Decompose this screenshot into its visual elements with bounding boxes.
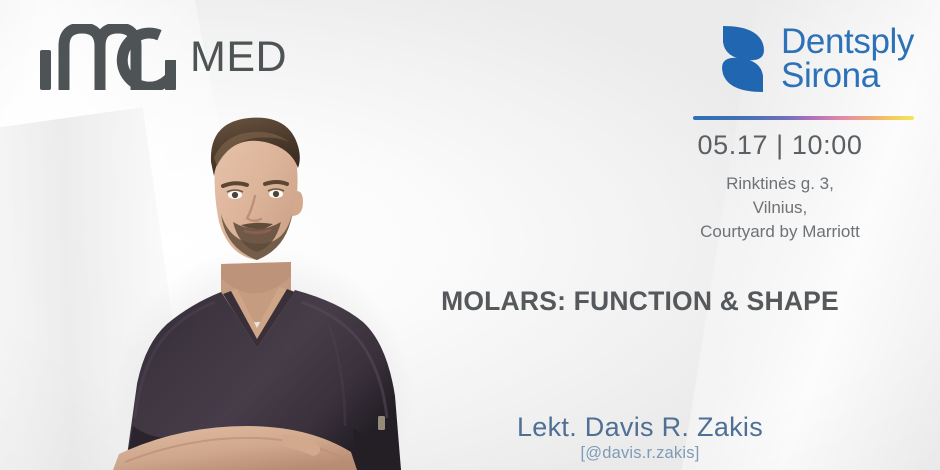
mo-med-wordmark: MED [190,36,287,79]
brand-gradient-rule [693,116,914,120]
dentsply-sirona-s-mark-icon [717,22,769,96]
sirona-word: Sirona [781,59,914,93]
lecture-title: MOLARS: FUNCTION & SHAPE [360,286,920,317]
speaker-handle[interactable]: [@davis.r.zakis] [360,444,920,463]
mo-monogram-icon [38,24,176,90]
speaker-credit: Lekt. Davis R. Zakis [@davis.r.zakis] [360,412,920,463]
event-poster: MED Dentsply Sirona 05.17 | 10:00 Rinkti… [0,0,940,470]
event-details: 05.17 | 10:00 Rinktinės g. 3, Vilnius, C… [640,130,920,244]
dentsply-sirona-logo[interactable]: Dentsply Sirona [717,22,914,96]
address-line-1: Rinktinės g. 3, [640,172,920,196]
address-line-3: Courtyard by Marriott [640,220,920,244]
dentsply-word: Dentsply [781,25,914,59]
background-sheen-left-secondary [0,107,215,470]
mo-med-logo[interactable]: MED [38,24,287,90]
event-datetime: 05.17 | 10:00 [640,130,920,161]
address-line-2: Vilnius, [640,196,920,220]
speaker-name: Lekt. Davis R. Zakis [360,412,920,442]
dentsply-sirona-wordmark: Dentsply Sirona [781,25,914,92]
event-address: Rinktinės g. 3, Vilnius, Courtyard by Ma… [640,172,920,244]
